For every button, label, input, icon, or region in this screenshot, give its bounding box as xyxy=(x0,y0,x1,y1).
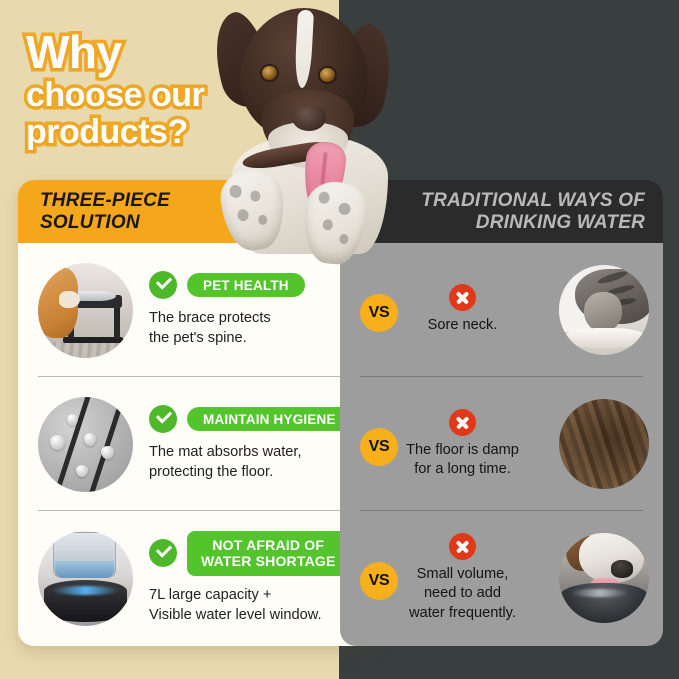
vs-badge: VS xyxy=(360,428,398,466)
pro-row: PET HEALTH The brace protects the pet's … xyxy=(18,243,378,377)
pro-description: The mat absorbs water, protecting the fl… xyxy=(149,443,360,482)
status-badge-line-1: NOT AFRAID OF xyxy=(212,537,324,553)
status-badge-line-2: WATER SHORTAGE xyxy=(201,553,336,569)
status-badge: PET HEALTH xyxy=(187,273,305,297)
x-circle-icon xyxy=(449,409,476,436)
pro-text-block: NOT AFRAID OF WATER SHORTAGE 7L large ca… xyxy=(149,531,360,626)
con-column-title: TRADITIONAL WAYS OF DRINKING WATER xyxy=(421,190,645,233)
water-tank-with-level-window-photo xyxy=(38,531,133,626)
status-badge: MAINTAIN HYGIENE xyxy=(187,407,352,431)
con-description: Sore neck. xyxy=(428,316,498,335)
pro-column-title-line-2: SOLUTION xyxy=(40,212,140,233)
pro-row: MAINTAIN HYGIENE The mat absorbs water, … xyxy=(18,377,378,511)
con-text-block: Small volume, need to add water frequent… xyxy=(374,533,551,623)
pro-badge-row: MAINTAIN HYGIENE xyxy=(149,405,360,433)
page-title: Why choose our products? xyxy=(26,30,326,150)
pro-description: The brace protects the pet's spine. xyxy=(149,309,360,348)
x-circle-icon xyxy=(449,533,476,560)
pro-rows: PET HEALTH The brace protects the pet's … xyxy=(18,243,378,645)
damp-wooden-floor-photo xyxy=(559,399,649,489)
absorbent-mat-with-water-droplets-photo xyxy=(38,397,133,492)
pro-column-title-line-1: THREE-PIECE xyxy=(40,190,170,211)
con-description: Small volume, need to add water frequent… xyxy=(409,565,516,623)
con-description: The floor is damp for a long time. xyxy=(406,441,519,480)
page-title-line-3: products? xyxy=(26,116,326,149)
pro-badge-row: NOT AFRAID OF WATER SHORTAGE xyxy=(149,531,360,577)
con-text-block: Sore neck. xyxy=(374,284,551,335)
con-column-title-line-1: TRADITIONAL WAYS OF xyxy=(421,190,645,211)
page-title-line-2: choose our xyxy=(26,79,326,112)
page-title-line-1: Why xyxy=(26,30,326,75)
cat-bending-to-floor-bowl-photo xyxy=(559,265,649,355)
status-badge: NOT AFRAID OF WATER SHORTAGE xyxy=(187,531,350,577)
pro-column-title: THREE-PIECE SOLUTION xyxy=(40,190,170,233)
pro-row: NOT AFRAID OF WATER SHORTAGE 7L large ca… xyxy=(18,511,378,645)
con-column-title-line-2: DRINKING WATER xyxy=(476,212,645,233)
dog-drinking-from-small-bowl-photo xyxy=(559,533,649,623)
pro-column-panel: THREE-PIECE SOLUTION PET HEALTH The brac… xyxy=(18,180,378,646)
pro-text-block: PET HEALTH The brace protects the pet's … xyxy=(149,271,360,348)
dog-drinking-from-elevated-stand-photo xyxy=(38,263,133,358)
con-column-header: TRADITIONAL WAYS OF DRINKING WATER xyxy=(340,180,663,243)
pro-column-header: THREE-PIECE SOLUTION xyxy=(18,180,378,243)
pro-badge-row: PET HEALTH xyxy=(149,271,360,299)
check-circle-icon xyxy=(149,539,177,567)
pro-description: 7L large capacity + Visible water level … xyxy=(149,586,360,625)
check-circle-icon xyxy=(149,271,177,299)
vs-badge: VS xyxy=(360,294,398,332)
con-text-block: The floor is damp for a long time. xyxy=(374,409,551,480)
x-circle-icon xyxy=(449,284,476,311)
pro-text-block: MAINTAIN HYGIENE The mat absorbs water, … xyxy=(149,405,360,482)
check-circle-icon xyxy=(149,405,177,433)
vs-badge: VS xyxy=(360,562,398,600)
